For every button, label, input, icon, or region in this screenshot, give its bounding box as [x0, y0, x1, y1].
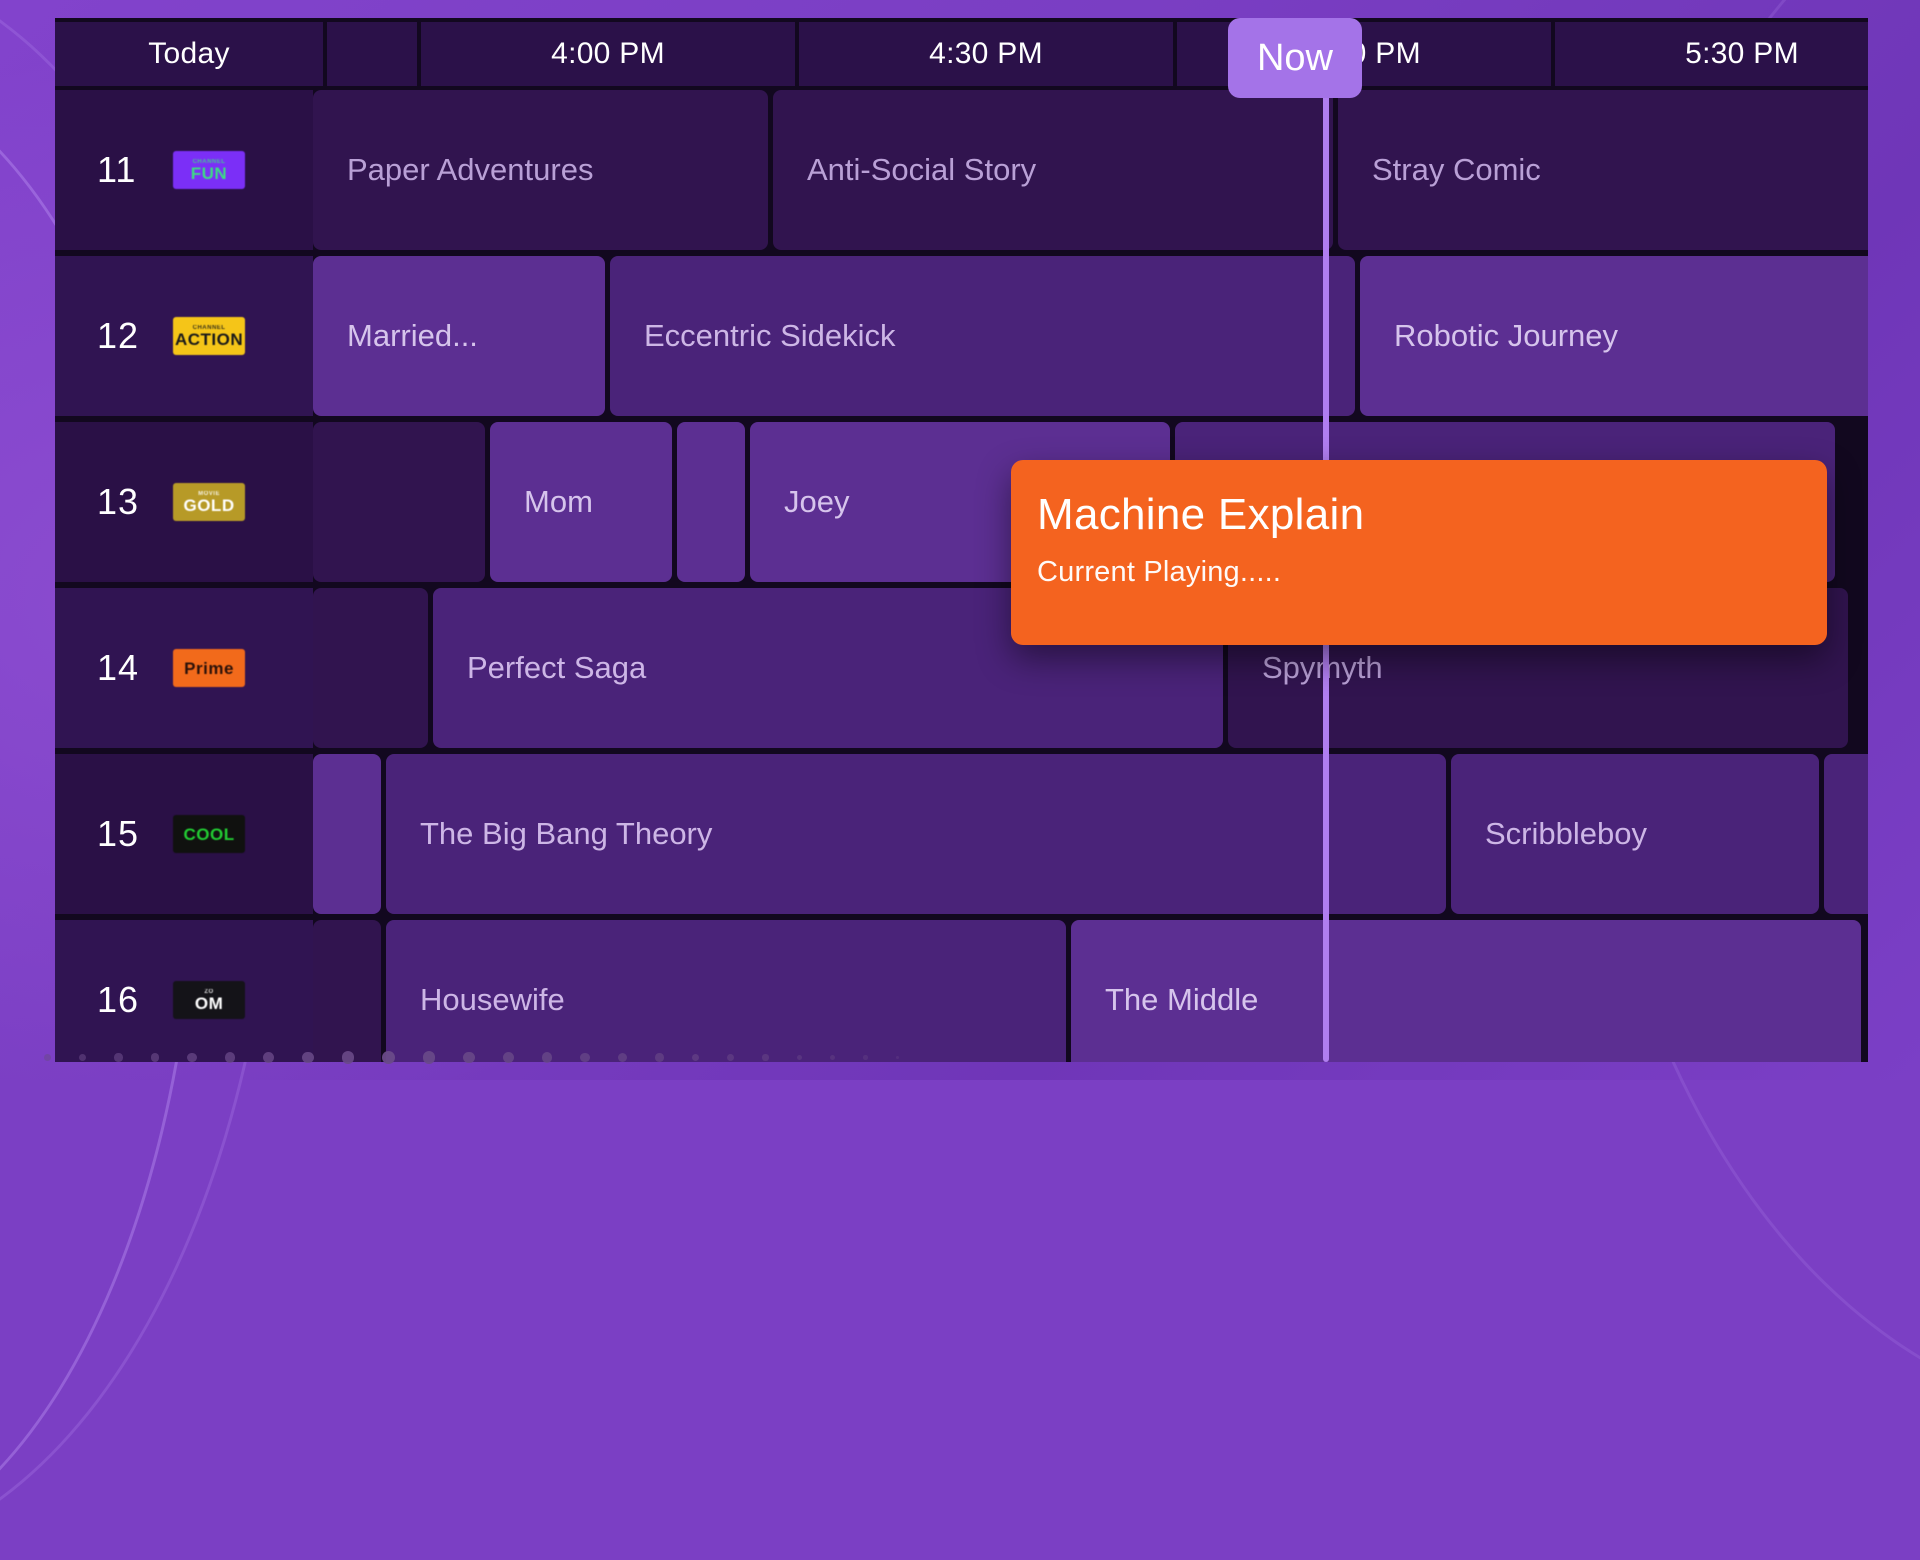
- program-cell-empty[interactable]: [313, 422, 485, 582]
- program-lane: Paper AdventuresAnti-Social StoryStray C…: [313, 90, 1868, 250]
- channel-cell-12[interactable]: 12CHANNELACTION: [55, 256, 313, 416]
- pagination-dot[interactable]: [423, 1051, 435, 1063]
- channel-logo-sup: MOVIE: [198, 491, 220, 497]
- program-lane: HousewifeThe Middle: [313, 920, 1868, 1062]
- program-lane: Married...Eccentric SidekickRobotic Jour…: [313, 256, 1868, 416]
- pagination-dot[interactable]: [727, 1054, 734, 1061]
- program-cell[interactable]: Stray Comic: [1338, 90, 1868, 250]
- channel-cell-11[interactable]: 11CHANNELFUN: [55, 90, 313, 250]
- channel-logo-text: Prime: [184, 660, 234, 677]
- program-cell[interactable]: Mom: [490, 422, 672, 582]
- time-header-spacer: [327, 22, 417, 86]
- action-channel-logo: CHANNELACTION: [173, 317, 245, 355]
- channel-row: 15COOLThe Big Bang TheoryScribbleboy: [55, 754, 1868, 914]
- current-playing-card[interactable]: Machine Explain Current Playing.....: [1011, 460, 1827, 645]
- program-cell-empty[interactable]: [677, 422, 745, 582]
- pagination-dot[interactable]: [618, 1053, 627, 1062]
- pagination-dot[interactable]: [151, 1053, 160, 1062]
- pagination-dot[interactable]: [896, 1056, 900, 1060]
- pagination-dots[interactable]: [0, 1051, 1920, 1064]
- channel-number: 14: [97, 647, 139, 689]
- program-cell-empty[interactable]: [313, 920, 381, 1062]
- channel-cell-15[interactable]: 15COOL: [55, 754, 313, 914]
- pagination-dot[interactable]: [830, 1055, 835, 1060]
- today-label[interactable]: Today: [55, 22, 323, 86]
- program-cell[interactable]: Scribbleboy: [1451, 754, 1819, 914]
- program-cell[interactable]: Paper Adventures: [313, 90, 768, 250]
- channel-cell-14[interactable]: 14Prime: [55, 588, 313, 748]
- channel-number: 15: [97, 813, 139, 855]
- pagination-dot[interactable]: [114, 1053, 122, 1061]
- time-slot-2[interactable]: 4:30 PM: [799, 22, 1173, 86]
- channel-cell-16[interactable]: 16ZOOM: [55, 920, 313, 1062]
- pagination-dot[interactable]: [302, 1052, 314, 1064]
- channel-row: 16ZOOMHousewifeThe Middle: [55, 920, 1868, 1062]
- channel-logo-sup: CHANNEL: [193, 159, 226, 165]
- channel-cell-13[interactable]: 13MOVIEGOLD: [55, 422, 313, 582]
- current-playing-subtitle: Current Playing.....: [1037, 556, 1827, 589]
- pagination-dot[interactable]: [580, 1053, 590, 1063]
- time-header-bar: Today 4:00 PM 4:30 PM 5:00 PM 5:30 PM: [55, 18, 1868, 90]
- current-playing-title: Machine Explain: [1037, 490, 1827, 540]
- program-cell[interactable]: The Middle: [1071, 920, 1861, 1062]
- cool-channel-logo: COOL: [173, 815, 245, 853]
- zoom-channel-logo: ZOOM: [173, 981, 245, 1019]
- pagination-dot[interactable]: [542, 1052, 552, 1062]
- pagination-dot[interactable]: [263, 1052, 274, 1063]
- now-badge[interactable]: Now: [1228, 18, 1362, 98]
- channel-logo-text: COOL: [183, 826, 234, 843]
- program-cell[interactable]: The Big Bang Theory: [386, 754, 1446, 914]
- channel-number: 11: [97, 149, 139, 191]
- channel-logo-text: GOLD: [183, 497, 234, 514]
- pagination-dot[interactable]: [463, 1052, 475, 1064]
- time-slot-1[interactable]: 4:00 PM: [421, 22, 795, 86]
- pagination-dot[interactable]: [382, 1051, 395, 1064]
- prime-channel-logo: Prime: [173, 649, 245, 687]
- channel-row: 11CHANNELFUNPaper AdventuresAnti-Social …: [55, 90, 1868, 250]
- pagination-dot[interactable]: [692, 1054, 700, 1062]
- program-cell[interactable]: Eccentric Sidekick: [610, 256, 1355, 416]
- program-cell-empty[interactable]: [313, 588, 428, 748]
- pagination-dot[interactable]: [79, 1054, 87, 1062]
- channel-number: 12: [97, 315, 139, 357]
- channel-logo-text: OM: [195, 995, 223, 1012]
- pagination-dot[interactable]: [797, 1055, 803, 1061]
- program-cell-empty[interactable]: [1824, 754, 1868, 914]
- program-lane: The Big Bang TheoryScribbleboy: [313, 754, 1868, 914]
- pagination-dot[interactable]: [225, 1052, 235, 1062]
- channel-number: 16: [97, 979, 139, 1021]
- pagination-dot[interactable]: [503, 1052, 514, 1063]
- pagination-dot[interactable]: [187, 1053, 197, 1063]
- program-cell[interactable]: Robotic Journey: [1360, 256, 1868, 416]
- channel-logo-text: FUN: [191, 165, 227, 182]
- pagination-dot[interactable]: [655, 1053, 663, 1061]
- program-cell[interactable]: Anti-Social Story: [773, 90, 1333, 250]
- pagination-dot[interactable]: [342, 1051, 354, 1063]
- program-cell[interactable]: Married...: [313, 256, 605, 416]
- time-slot-4[interactable]: 5:30 PM: [1555, 22, 1868, 86]
- pagination-dot[interactable]: [762, 1054, 768, 1060]
- pagination-dot[interactable]: [863, 1055, 867, 1059]
- pagination-dot[interactable]: [44, 1054, 51, 1061]
- fun-channel-logo: CHANNELFUN: [173, 151, 245, 189]
- channel-logo-sup: CHANNEL: [193, 325, 226, 331]
- channel-number: 13: [97, 481, 139, 523]
- channel-logo-sup: ZO: [204, 989, 213, 995]
- gold-channel-logo: MOVIEGOLD: [173, 483, 245, 521]
- channel-row: 12CHANNELACTIONMarried...Eccentric Sidek…: [55, 256, 1868, 416]
- program-cell[interactable]: Housewife: [386, 920, 1066, 1062]
- channel-logo-text: ACTION: [175, 331, 243, 348]
- program-cell-empty[interactable]: [313, 754, 381, 914]
